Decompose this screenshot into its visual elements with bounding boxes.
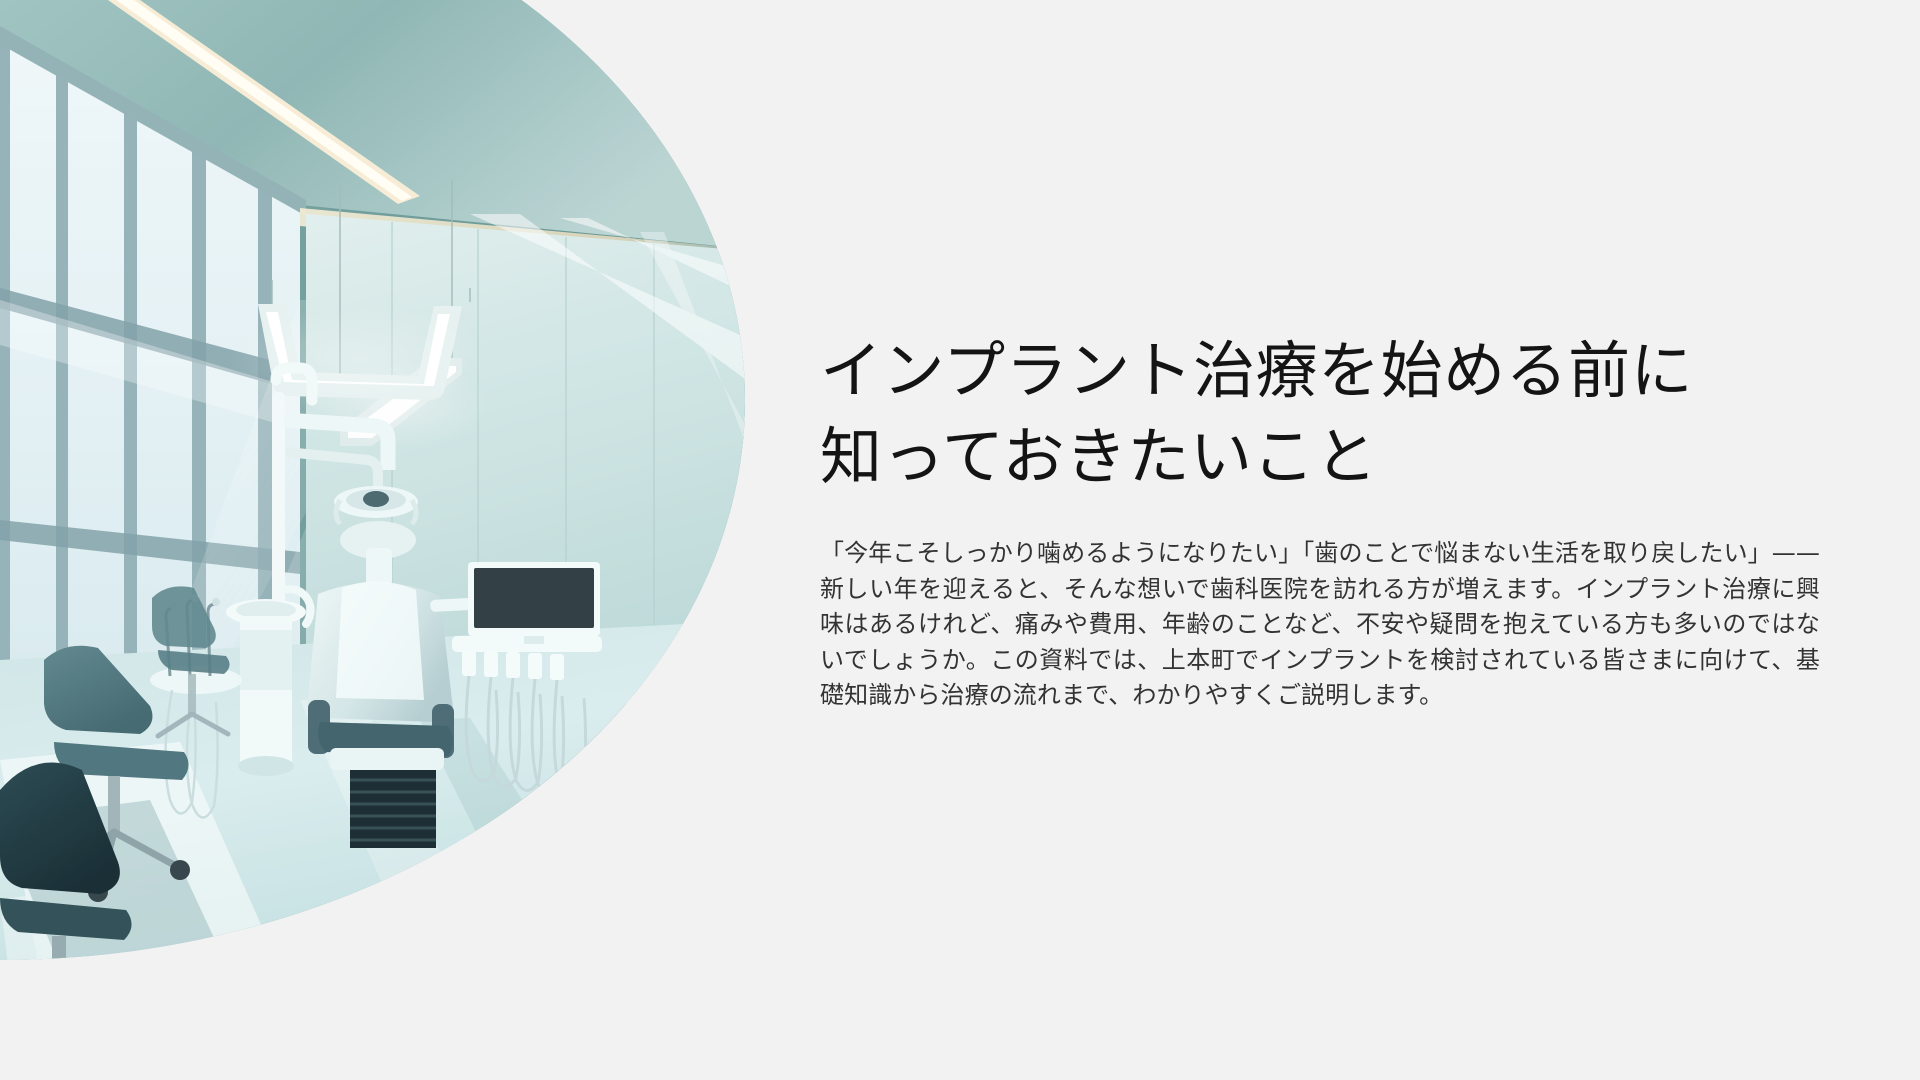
page-title: インプラント治療を始める前に 知っておきたいこと: [820, 328, 1820, 500]
clinic-interior-image: [0, 0, 760, 1080]
counter-items: [640, 762, 728, 828]
slide-root: インプラント治療を始める前に 知っておきたいこと 「今年こそしっかり噛めるように…: [0, 0, 1920, 1080]
faucet-icon: [612, 758, 652, 826]
text-column: インプラント治療を始める前に 知っておきたいこと 「今年こそしっかり噛めるように…: [820, 0, 1840, 1080]
clinic-interior-illustration: [0, 0, 760, 1080]
lede-paragraph: 「今年こそしっかり噛めるようになりたい」「歯のことで悩まない生活を取り戻したい」…: [820, 536, 1820, 714]
sink-basin: [508, 826, 646, 846]
